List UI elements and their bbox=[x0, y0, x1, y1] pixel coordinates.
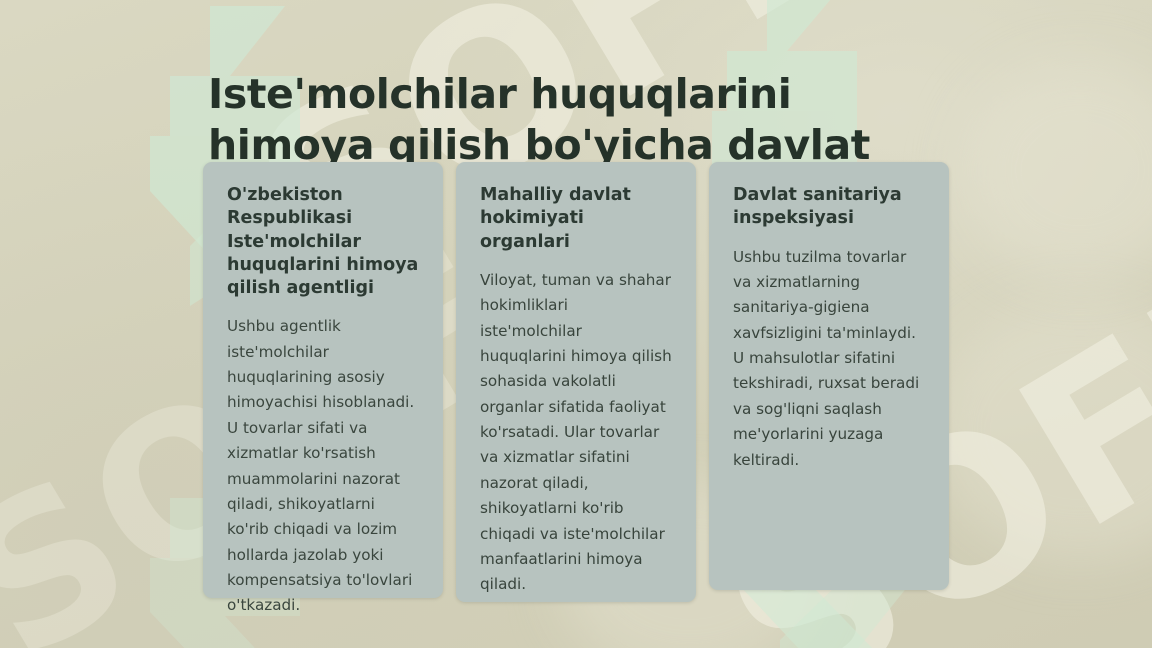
background-blur-blob bbox=[930, 300, 1152, 560]
slide-canvas: SOFF SOFF SOFF bbox=[0, 0, 1152, 648]
card-title: O'zbekiston Respublikasi Iste'molchilar … bbox=[227, 184, 419, 300]
background-blur-blob bbox=[960, 60, 1152, 280]
info-card: Mahalliy davlat hokimiyati organlari Vil… bbox=[456, 162, 696, 602]
card-title: Mahalliy davlat hokimiyati organlari bbox=[480, 184, 672, 254]
info-card: O'zbekiston Respublikasi Iste'molchilar … bbox=[203, 162, 443, 598]
card-title: Davlat sanitariya inspeksiyasi bbox=[733, 184, 925, 231]
card-body: Ushbu agentlik iste'molchilar huquqlarin… bbox=[227, 314, 419, 619]
info-card: Davlat sanitariya inspeksiyasi Ushbu tuz… bbox=[709, 162, 949, 590]
card-body: Viloyat, tuman va shahar hokimliklari is… bbox=[480, 268, 672, 598]
card-body: Ushbu tuzilma tovarlar va xizmatlarning … bbox=[733, 245, 925, 473]
card-group: O'zbekiston Respublikasi Iste'molchilar … bbox=[203, 162, 949, 602]
